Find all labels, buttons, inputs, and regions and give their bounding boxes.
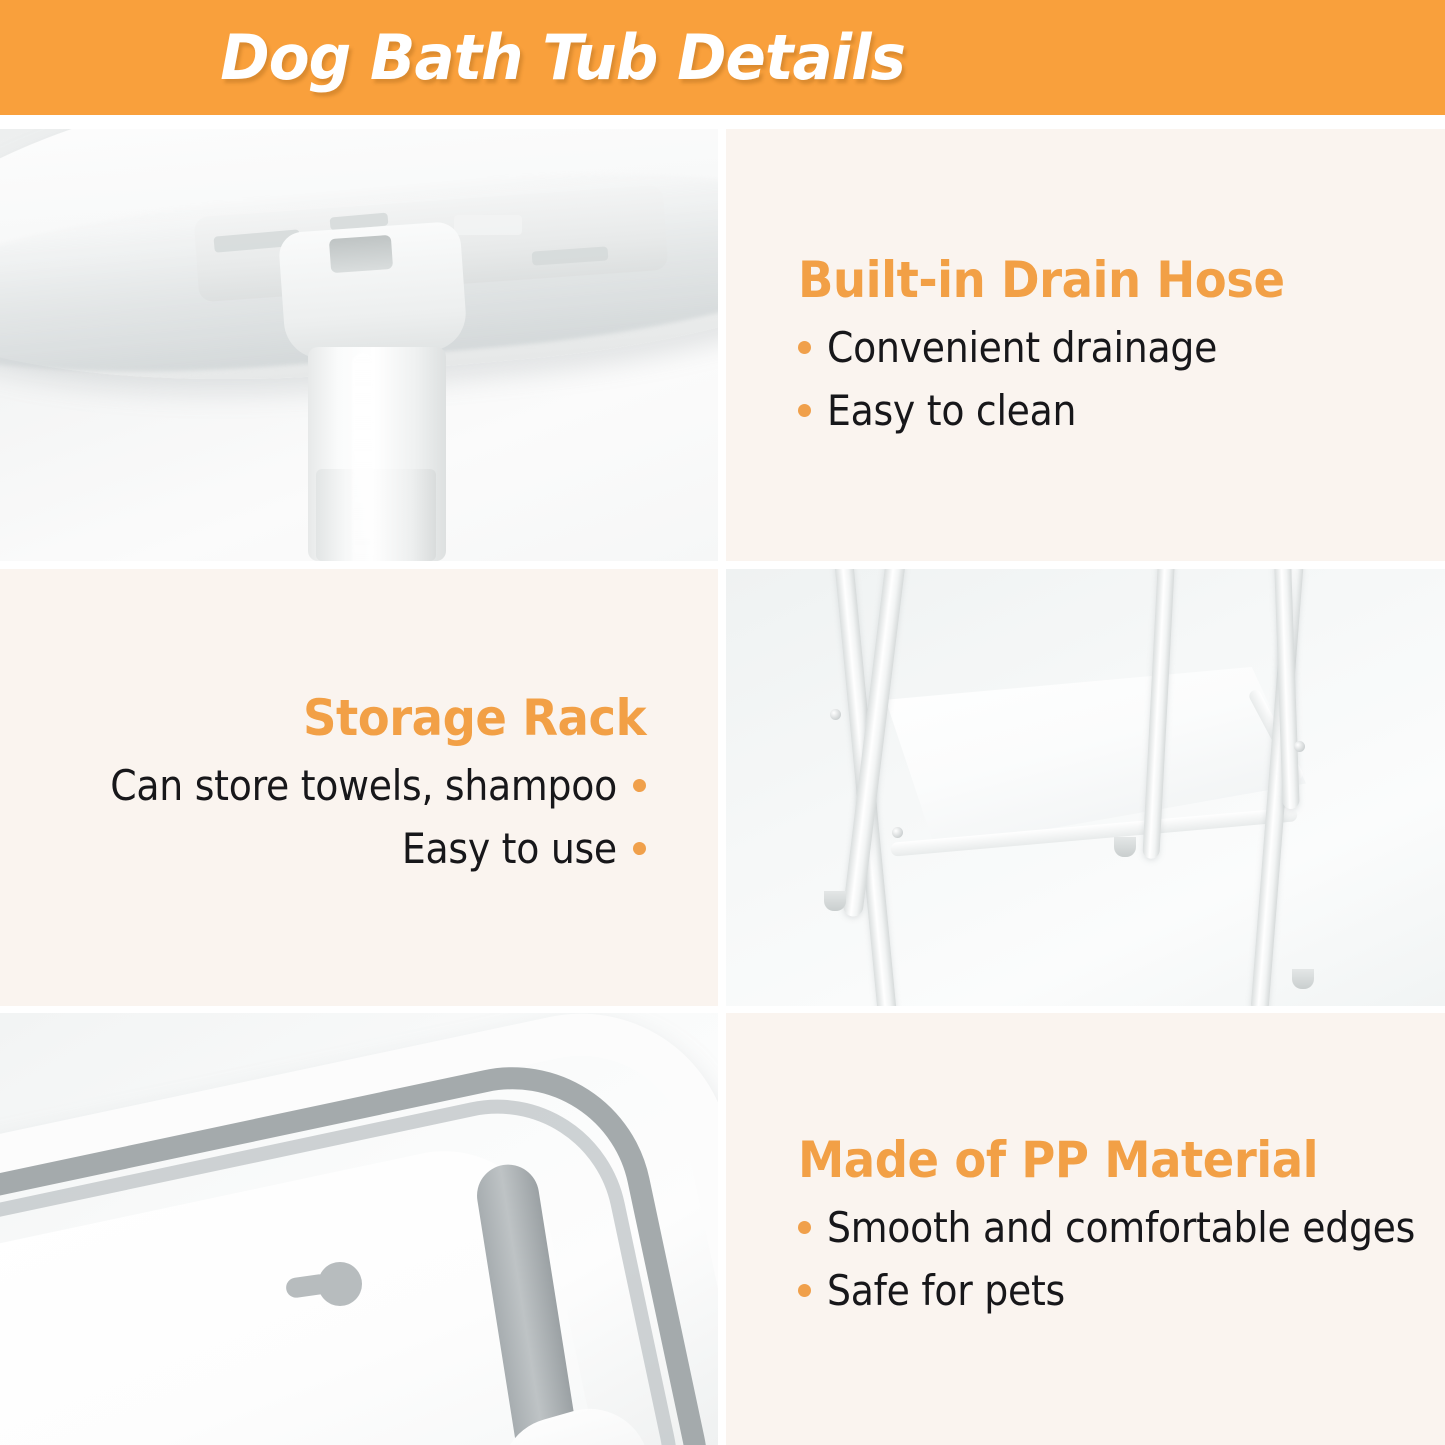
column-gap: [718, 1013, 726, 1445]
drain-hose-scene: [0, 129, 718, 561]
product-detail-infographic: Dog Bath Tub Details: [0, 0, 1445, 1445]
header-banner: Dog Bath Tub Details: [0, 0, 1445, 115]
pp-material-text-panel: Made of PP Material Smooth and comfortab…: [726, 1013, 1445, 1445]
section-heading-pp-material: Made of PP Material: [798, 1131, 1400, 1189]
leg-foot: [1114, 837, 1136, 857]
section-heading-drain-hose: Built-in Drain Hose: [798, 251, 1400, 309]
drain-opening: [329, 235, 393, 273]
rivet: [892, 827, 903, 838]
section-storage-rack: Storage Rack Can store towels, shampoo E…: [0, 569, 1445, 1006]
bullet-dot-icon: [633, 842, 646, 855]
plate-slot: [454, 215, 522, 235]
list-item: Smooth and comfortable edges: [798, 1203, 1445, 1252]
list-item: Can store towels, shampoo: [0, 761, 646, 810]
storage-rack-text-panel: Storage Rack Can store towels, shampoo E…: [0, 569, 718, 1006]
pp-material-scene: [0, 1013, 718, 1445]
drain-hose-text-panel: Built-in Drain Hose Convenient drainage …: [726, 129, 1445, 561]
storage-rack-scene: [726, 569, 1445, 1006]
bullet-dot-icon: [798, 1221, 811, 1234]
bullet-label: Easy to use: [402, 824, 617, 873]
section-heading-storage-rack: Storage Rack: [45, 689, 646, 747]
storage-rack-photo: [726, 569, 1445, 1006]
leg-foot: [824, 891, 846, 911]
bullet-list-storage-rack: Can store towels, shampoo Easy to use: [0, 761, 646, 873]
bullet-label: Convenient drainage: [827, 323, 1217, 372]
bullet-label: Smooth and comfortable edges: [827, 1203, 1415, 1252]
column-gap: [718, 129, 726, 561]
column-gap: [718, 569, 726, 1006]
bullet-dot-icon: [798, 341, 811, 354]
section-pp-material: Made of PP Material Smooth and comfortab…: [0, 1013, 1445, 1445]
section-drain-hose: Built-in Drain Hose Convenient drainage …: [0, 129, 1445, 561]
list-item: Convenient drainage: [798, 323, 1445, 372]
rivet: [1294, 741, 1305, 752]
bullet-label: Can store towels, shampoo: [110, 761, 617, 810]
bullet-label: Safe for pets: [827, 1266, 1065, 1315]
hose-highlight: [352, 353, 374, 561]
page-title: Dog Bath Tub Details: [220, 21, 905, 94]
bullet-label: Easy to clean: [827, 386, 1076, 435]
list-item: Easy to use: [0, 824, 646, 873]
bullet-dot-icon: [633, 779, 646, 792]
list-item: Easy to clean: [798, 386, 1445, 435]
pp-material-photo: [0, 1013, 718, 1445]
list-item: Safe for pets: [798, 1266, 1445, 1315]
bullet-dot-icon: [798, 1284, 811, 1297]
bullet-dot-icon: [798, 404, 811, 417]
bullet-list-drain-hose: Convenient drainage Easy to clean: [798, 323, 1445, 435]
rivet: [830, 709, 841, 720]
drain-hose-photo: [0, 129, 718, 561]
drain-hose-lower: [316, 469, 436, 561]
bullet-list-pp-material: Smooth and comfortable edges Safe for pe…: [798, 1203, 1445, 1315]
leg-foot: [1292, 969, 1314, 989]
